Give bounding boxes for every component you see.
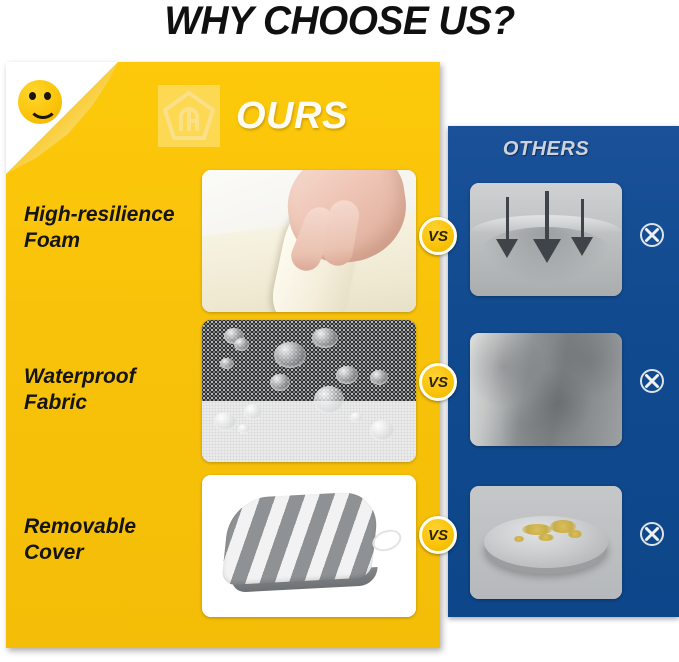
feature-label-high-resilience-foam: High-resilience Foam [24,202,204,254]
ours-image-waterproof-fabric [202,320,416,462]
circle-x-icon [639,368,665,394]
others-heading: OTHERS [448,138,644,161]
ours-image-removable-cover [202,475,416,617]
ours-panel: OURS High-resilience Foam Waterproof Fab… [6,62,440,648]
brand-lockup: OURS [158,85,348,147]
pressure-arrow-icon [496,197,518,259]
page-title: WHY CHOOSE US? [10,0,669,44]
pressure-arrow-icon [532,191,562,267]
vs-badge-removable-cover: VS [419,516,457,554]
feature-label-waterproof-fabric: Waterproof Fabric [24,364,204,416]
circle-x-icon [639,521,665,547]
pressure-arrow-icon [571,199,593,259]
circle-x-icon [639,222,665,248]
others-image-waterproof-fabric [470,333,622,446]
pentagon-house-logo-icon [158,85,220,147]
others-image-high-resilience-foam [470,183,622,296]
ours-heading: OURS [236,95,348,138]
ours-image-high-resilience-foam [202,170,416,312]
smiley-face-icon [18,80,62,124]
vs-badge-waterproof-fabric: VS [419,363,457,401]
others-image-removable-cover [470,486,622,599]
vs-badge-high-resilience-foam: VS [419,217,457,255]
feature-label-removable-cover: Removable Cover [24,514,204,566]
